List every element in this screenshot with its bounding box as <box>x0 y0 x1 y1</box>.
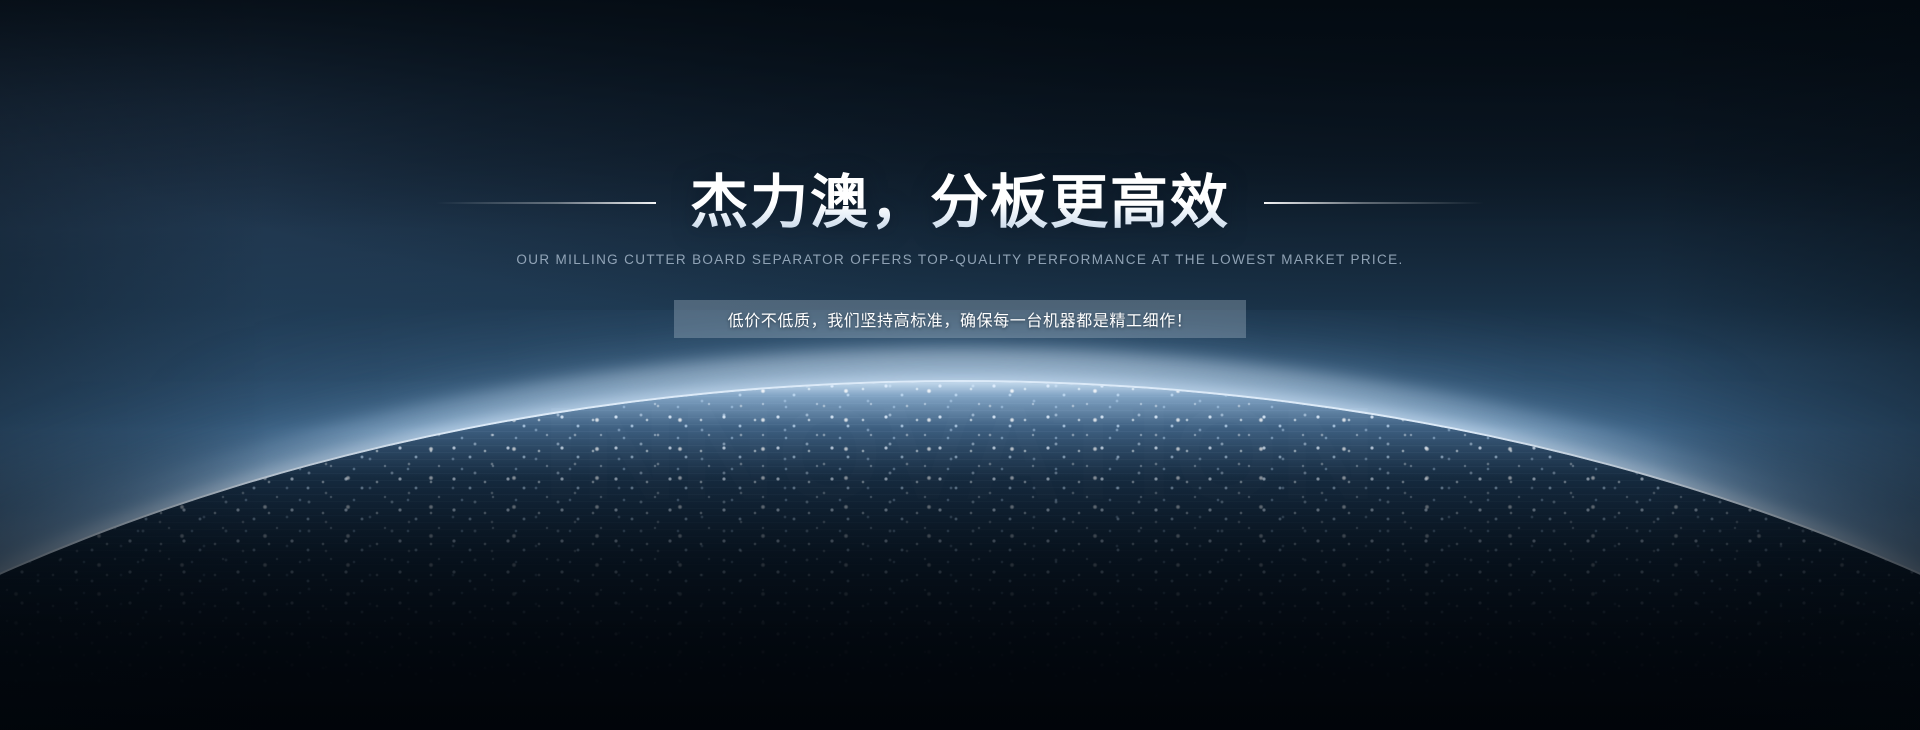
page-title: 杰力澳，分板更高效 <box>690 169 1230 237</box>
tagline-banner: 低价不低质，我们坚持高标准，确保每一台机器都是精工细作！ <box>674 300 1246 338</box>
hero-content: 杰力澳，分板更高效 OUR MILLING CUTTER BOARD SEPAR… <box>0 0 1920 730</box>
hero-banner: INNOVATION 杰力澳，分板更高效 OUR MILLING CUTTER … <box>0 0 1920 730</box>
tagline-container: 低价不低质，我们坚持高标准，确保每一台机器都是精工细作！ <box>0 300 1920 338</box>
divider-line-right-icon <box>1264 202 1484 204</box>
divider-line-left-icon <box>436 202 656 204</box>
subtitle-english: OUR MILLING CUTTER BOARD SEPARATOR OFFER… <box>0 252 1920 267</box>
